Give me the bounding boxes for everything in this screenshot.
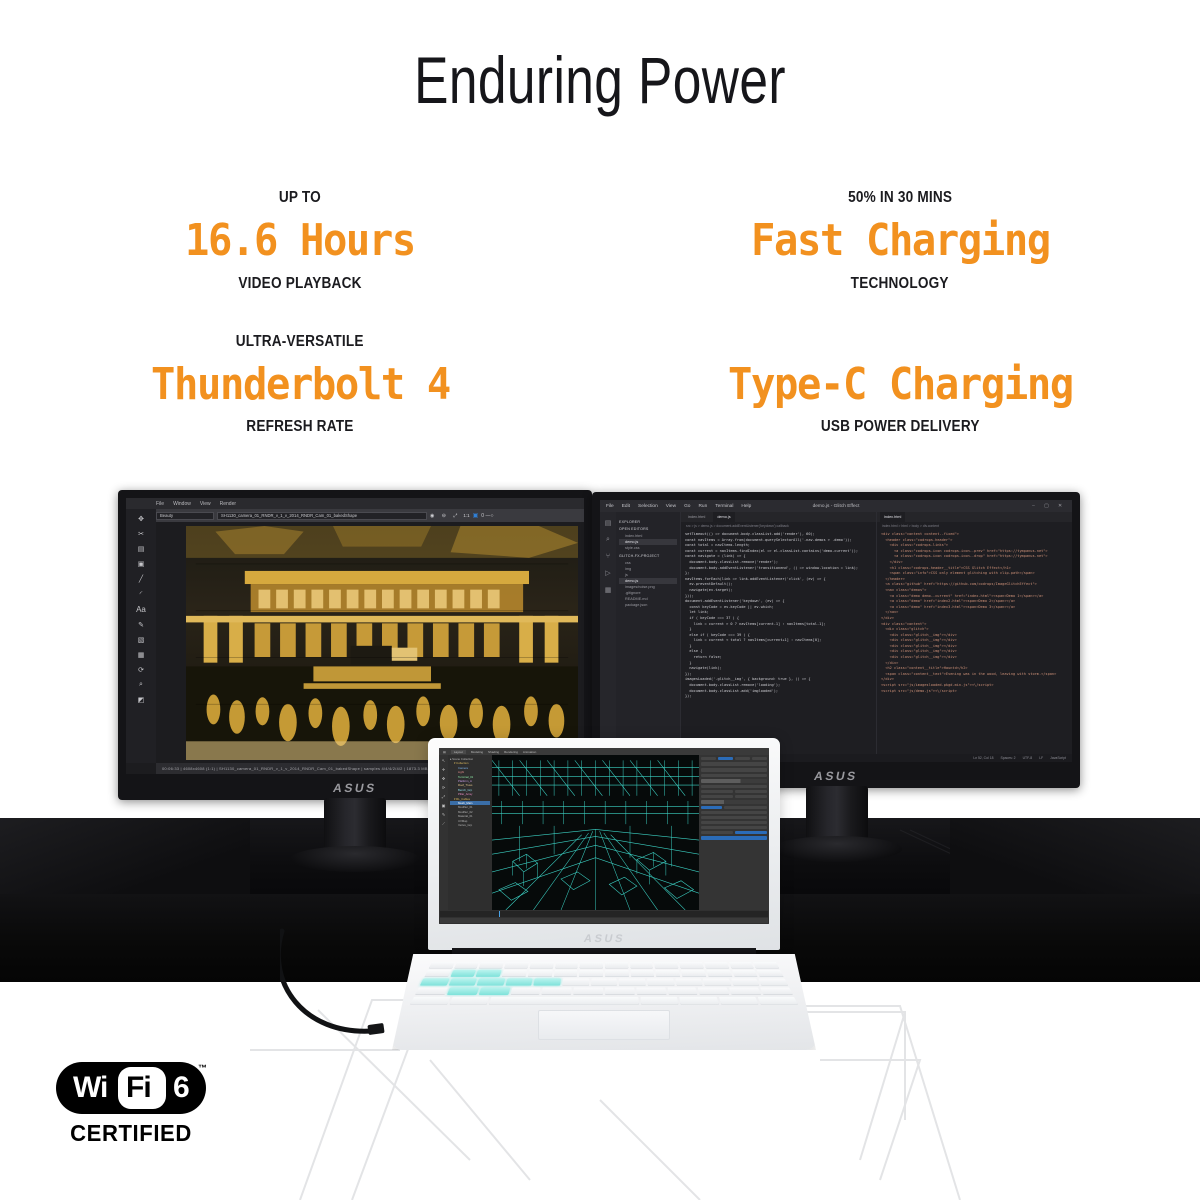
key[interactable] (605, 970, 629, 977)
property-row[interactable] (701, 768, 767, 772)
key[interactable] (555, 962, 579, 968)
key[interactable] (718, 997, 758, 1005)
key[interactable] (619, 979, 646, 986)
key[interactable] (504, 962, 529, 968)
keyboard-row-home[interactable] (415, 987, 793, 994)
topbar-tab[interactable]: Modeling (471, 750, 483, 754)
spec-top-label: 50% IN 30 MINS (848, 188, 952, 208)
measure-tool-icon[interactable]: ⟋ (442, 821, 445, 826)
key[interactable] (542, 987, 572, 994)
spec-value: Fast Charging (751, 214, 1050, 268)
annotate-tool-icon[interactable]: ✎ (442, 812, 445, 817)
key[interactable] (534, 979, 561, 986)
key[interactable] (760, 987, 793, 994)
key[interactable] (656, 970, 681, 977)
spec-type-c-charging: Type-C Charging USB POWER DELIVERY (600, 332, 1200, 438)
property-field[interactable] (701, 831, 733, 834)
key[interactable] (415, 987, 448, 994)
key[interactable] (706, 970, 732, 977)
key[interactable] (630, 962, 654, 968)
laptop-bezel-chin: ASUS (428, 928, 780, 950)
transform-tool-icon[interactable]: ▣ (442, 803, 446, 808)
wifi-badge-fi-box: Fi (118, 1067, 166, 1109)
property-button-active[interactable] (735, 831, 767, 834)
key[interactable] (420, 979, 449, 986)
timeline-track[interactable] (440, 911, 768, 917)
timeline-scrollbar[interactable] (440, 918, 768, 923)
3d-properties-panel[interactable] (699, 755, 769, 910)
property-row[interactable] (701, 821, 767, 824)
key[interactable] (502, 970, 527, 977)
key[interactable] (429, 962, 455, 968)
key[interactable] (450, 970, 476, 977)
topbar-tab[interactable]: Shading (488, 750, 499, 754)
key[interactable] (681, 970, 706, 977)
laptop: ▤ Layout Modeling Shading Rendering Anim… (0, 470, 1200, 1090)
laptop-touchpad[interactable] (538, 1010, 670, 1040)
wifi-badge-certified-text: CERTIFIED (59, 1120, 203, 1147)
key[interactable] (476, 970, 502, 977)
topbar-tab[interactable]: Layout (451, 750, 466, 754)
property-field[interactable] (735, 790, 767, 793)
property-row[interactable] (701, 785, 767, 788)
spec-sub-label: REFRESH RATE (246, 417, 353, 437)
playhead[interactable] (499, 911, 500, 917)
key[interactable] (675, 979, 703, 986)
3d-app-topbar[interactable]: ▤ Layout Modeling Shading Rendering Anim… (439, 748, 769, 755)
key[interactable] (573, 987, 603, 994)
key[interactable] (605, 987, 635, 994)
property-field[interactable] (724, 806, 767, 809)
key[interactable] (680, 997, 719, 1005)
key[interactable] (647, 979, 674, 986)
property-slider[interactable] (701, 779, 767, 783)
key[interactable] (489, 997, 639, 1005)
key[interactable] (729, 962, 755, 968)
3d-timeline-area[interactable] (439, 910, 769, 924)
key[interactable] (450, 997, 490, 1005)
property-tab[interactable] (752, 757, 767, 760)
key[interactable] (410, 997, 451, 1005)
spec-value: Thunderbolt 4 (151, 358, 450, 412)
key[interactable] (731, 979, 760, 986)
spec-sub-label: TECHNOLOGY (851, 274, 949, 294)
key[interactable] (478, 987, 509, 994)
key[interactable] (703, 979, 731, 986)
key[interactable] (479, 962, 504, 968)
spec-top-label: ULTRA-VERSATILE (236, 332, 364, 352)
key[interactable] (667, 987, 698, 994)
key[interactable] (654, 962, 678, 968)
key[interactable] (553, 970, 577, 977)
property-tab-active[interactable] (718, 757, 733, 760)
keyboard-row-qwerty[interactable] (420, 979, 788, 986)
laptop-screen: ▤ Layout Modeling Shading Rendering Anim… (439, 748, 769, 924)
wifi-badge-fi-text: Fi (126, 1071, 151, 1105)
key[interactable] (580, 962, 603, 968)
key[interactable] (757, 997, 798, 1005)
key[interactable] (641, 997, 679, 1005)
key[interactable] (454, 962, 480, 968)
topbar-tab[interactable]: Rendering (504, 750, 518, 754)
property-field[interactable] (735, 795, 767, 798)
3d-toolbar[interactable]: ↖ ✛ ✥ ⟳ ⤢ ▣ ✎ ⟋ (439, 755, 448, 910)
property-row[interactable] (701, 774, 767, 777)
key[interactable] (424, 970, 451, 977)
key[interactable] (759, 979, 788, 986)
rotate-tool-icon[interactable]: ⟳ (442, 785, 445, 790)
key[interactable] (528, 970, 553, 977)
key[interactable] (447, 987, 479, 994)
scale-tool-icon[interactable]: ⤢ (442, 794, 445, 799)
poster-stage: Enduring Power UP TO 16.6 Hours VIDEO PL… (0, 0, 1200, 1200)
key[interactable] (630, 970, 654, 977)
property-row[interactable] (701, 762, 767, 766)
keyboard-row-space[interactable] (410, 997, 798, 1005)
property-field[interactable] (701, 790, 733, 793)
keyboard-row-numbers[interactable] (424, 970, 783, 977)
key[interactable] (579, 970, 603, 977)
spec-grid: UP TO 16.6 Hours VIDEO PLAYBACK 50% IN 3… (0, 188, 1200, 437)
key[interactable] (591, 979, 617, 986)
property-row[interactable] (701, 816, 767, 819)
cursor-tool-icon[interactable]: ✛ (442, 767, 445, 772)
move-tool-icon[interactable]: ✥ (442, 776, 445, 781)
laptop-lid: ▤ Layout Modeling Shading Rendering Anim… (428, 738, 780, 950)
key[interactable] (698, 987, 729, 994)
spec-battery-life: UP TO 16.6 Hours VIDEO PLAYBACK (0, 188, 600, 294)
app-menu-icon[interactable]: ▤ (443, 750, 446, 754)
property-slider[interactable] (701, 800, 767, 804)
key[interactable] (636, 987, 666, 994)
key[interactable] (753, 962, 779, 968)
wifi-badge-generation: 6 (173, 1071, 190, 1105)
laptop-keyboard[interactable] (410, 962, 798, 1005)
3d-outliner[interactable]: ▸ Scene Collection ▾ Collection Camera L… (448, 755, 492, 910)
key[interactable] (605, 962, 628, 968)
laptop-brand-logo: ASUS (582, 933, 625, 945)
page-title: Enduring Power (132, 42, 1068, 118)
key[interactable] (704, 962, 729, 968)
spec-fast-charging: 50% IN 30 MINS Fast Charging TECHNOLOGY (600, 188, 1200, 294)
key[interactable] (529, 962, 553, 968)
key[interactable] (477, 979, 505, 986)
product-scene: File Window View Render Beauty SH1130_ca… (0, 470, 1200, 1090)
spec-sub-label: VIDEO PLAYBACK (238, 274, 361, 294)
key[interactable] (562, 979, 589, 986)
key[interactable] (729, 987, 761, 994)
property-row[interactable] (701, 826, 767, 829)
property-row[interactable] (701, 811, 767, 814)
wifi-badge-wi-text: Wi (73, 1071, 107, 1105)
trademark-icon: ™ (198, 1063, 207, 1073)
topbar-tab[interactable]: Animation (523, 750, 536, 754)
3d-modeling-app: ▤ Layout Modeling Shading Rendering Anim… (439, 748, 769, 924)
property-apply-button[interactable] (701, 836, 767, 840)
spec-sub-label: USB POWER DELIVERY (821, 417, 980, 437)
key[interactable] (505, 979, 533, 986)
wifi6-certified-badge: Wi Fi 6 ™ CERTIFIED (56, 1062, 206, 1154)
property-tab[interactable] (735, 757, 750, 760)
spec-value: Type-C Charging (728, 358, 1073, 412)
key[interactable] (448, 979, 477, 986)
select-tool-icon[interactable]: ↖ (442, 758, 445, 763)
key[interactable] (757, 970, 784, 977)
key[interactable] (732, 970, 758, 977)
spec-value: 16.6 Hours (185, 214, 415, 268)
key[interactable] (679, 962, 704, 968)
key[interactable] (510, 987, 541, 994)
spec-top-label: UP TO (279, 188, 321, 208)
property-tab[interactable] (701, 757, 716, 760)
outliner-item[interactable]: Vertex_Grp (450, 823, 490, 827)
3d-viewport[interactable] (492, 755, 699, 910)
keyboard-row-function[interactable] (429, 962, 780, 968)
property-toggle-active[interactable] (701, 806, 722, 809)
property-field[interactable] (701, 795, 733, 798)
spec-thunderbolt: ULTRA-VERSATILE Thunderbolt 4 REFRESH RA… (0, 332, 600, 438)
